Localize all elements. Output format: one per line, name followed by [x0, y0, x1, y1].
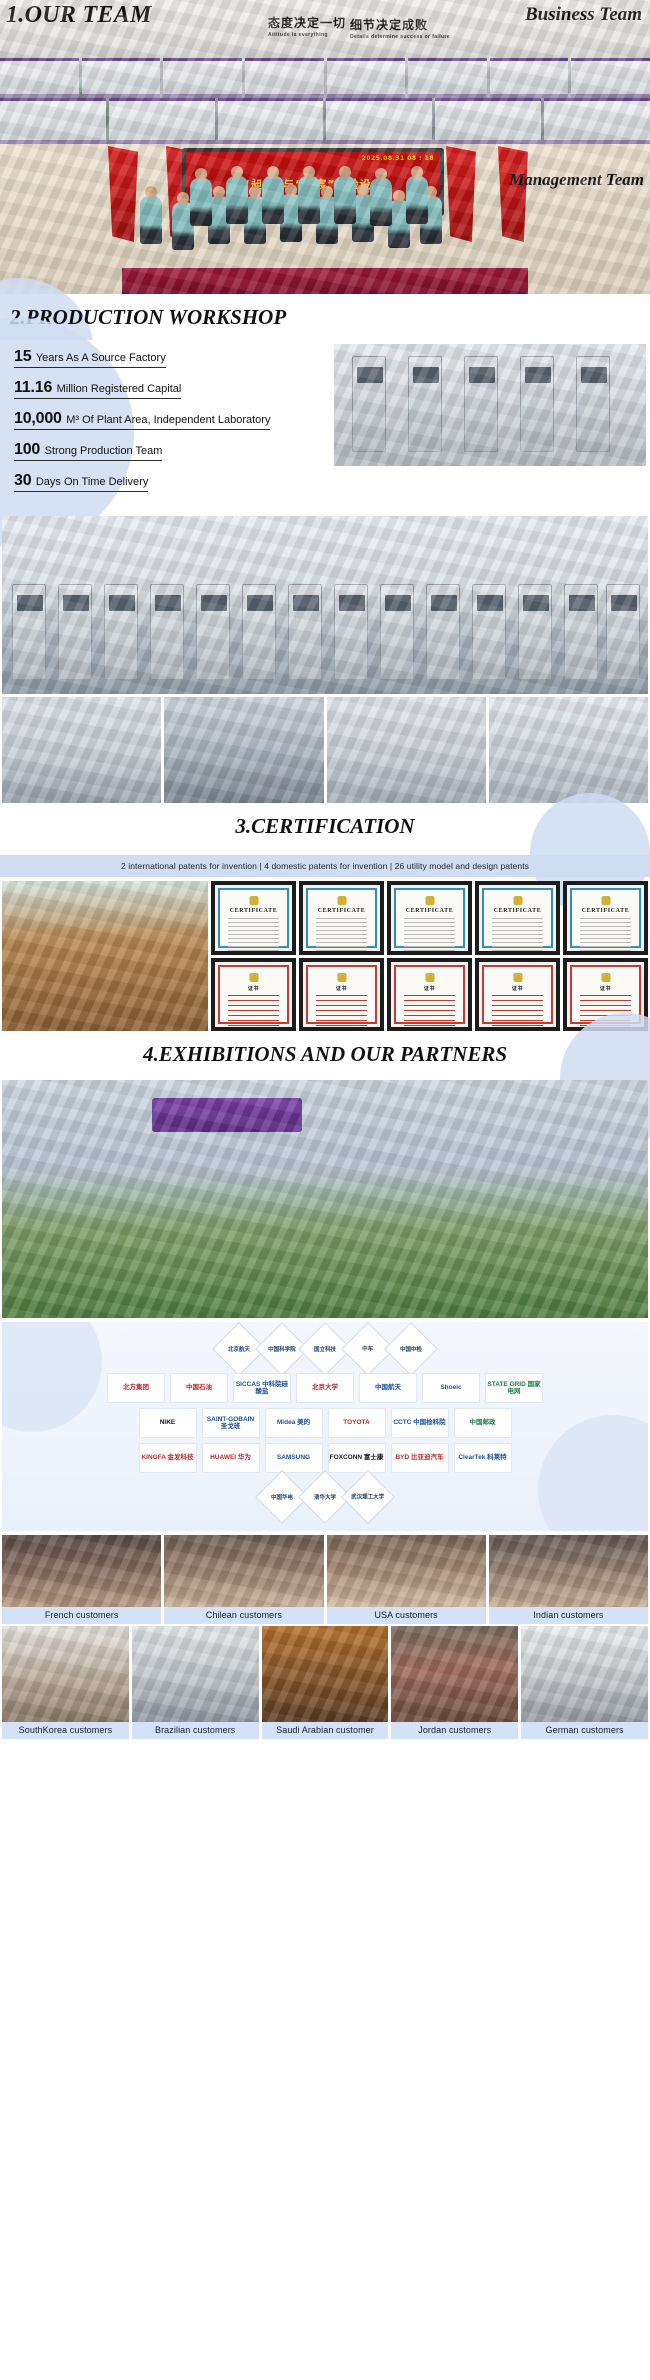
certificate-title-cn: 证书 [396, 985, 463, 992]
wall-slogan-attitude-en: Attitude is everything [268, 32, 328, 38]
partner-logo: 北方集团 [107, 1373, 165, 1403]
partner-row: KINGFA 金发科技 HUAWEI 华为 SAMSUNG FOXCONN 富士… [6, 1443, 644, 1473]
workshop-photo-assembly [164, 697, 323, 803]
section-heading-our-team: 1.OUR TEAM [6, 2, 152, 29]
team-member [370, 178, 392, 226]
section-heading-exhibitions: 4.EXHIBITIONS AND OUR PARTNERS [0, 1031, 650, 1077]
stat-text: Years As A Source Factory [36, 352, 166, 364]
seal-icon [601, 973, 610, 982]
certificate-title: CERTIFICATE [572, 908, 639, 914]
workshop-photo-machines [489, 697, 648, 803]
stat-item: 11.16 Million Registered Capital [14, 379, 181, 399]
customer-card: Indian customers [489, 1535, 648, 1624]
stat-item: 30 Days On Time Delivery [14, 472, 148, 492]
honor-wall-photo [2, 881, 208, 1031]
office-cubicle [218, 98, 324, 144]
stat-item: 100 Strong Production Team [14, 441, 162, 461]
customer-card: French customers [2, 1535, 161, 1624]
customer-card: SouthKorea customers [2, 1626, 129, 1739]
certificate-frame: 证书 [211, 958, 296, 1032]
certificate-frame: 证书 [387, 958, 472, 1032]
partner-logo: CCTC 中国检科院 [391, 1408, 449, 1438]
certificate-title-cn: 证书 [308, 985, 375, 992]
partner-logo: Shoeic [422, 1373, 480, 1403]
team-member [190, 178, 212, 226]
seal-icon [601, 896, 610, 905]
certificate-title-cn: 证书 [572, 985, 639, 992]
office-cubicle [408, 58, 487, 98]
stat-text: Million Registered Capital [57, 383, 182, 395]
team-member [262, 176, 284, 224]
partner-logo: 武汉理工大学 [341, 1470, 395, 1524]
partner-logo: ClearTek 科莱特 [454, 1443, 512, 1473]
stat-text: Days On Time Delivery [36, 476, 148, 488]
customer-card: Jordan customers [391, 1626, 518, 1739]
stats-list: 15 Years As A Source Factory 11.16 Milli… [0, 340, 330, 513]
partner-logo: SAMSUNG [265, 1443, 323, 1473]
stat-item: 10,000 M³ Of Plant Area, Independent Lab… [14, 410, 270, 430]
office-cubicle [82, 58, 161, 98]
section-heading-production-workshop: 2.PRODUCTION WORKSHOP [0, 294, 650, 340]
partner-label: 中国华电 [271, 1493, 293, 1501]
partner-label: 清华大学 [314, 1493, 336, 1501]
partner-logo: SAINT-GOBAIN 圣戈班 [202, 1408, 260, 1438]
partner-logo: NIKE [139, 1408, 197, 1438]
partner-row: NIKE SAINT-GOBAIN 圣戈班 Midea 美的 TOYOTA CC… [6, 1408, 644, 1438]
partner-label: 北京航天 [228, 1345, 250, 1353]
patents-banner-text: 2 international patents for invention | … [121, 861, 529, 871]
management-team-photo: 2025.08.31 08 : 18 “昶丰”与“昱宸”实验设备 战略合作签约仪… [0, 144, 650, 294]
certification-grid: CERTIFICATE CERTIFICATE CERTIFICATE CERT… [0, 881, 650, 1031]
red-flag [446, 146, 476, 242]
seal-icon [513, 973, 522, 982]
stat-text: M³ Of Plant Area, Independent Laboratory [66, 414, 270, 426]
team-member [140, 196, 162, 244]
stat-number: 10,000 [14, 410, 62, 427]
partner-row: 中国华电 清华大学 武汉理工大学 [6, 1478, 644, 1516]
label-business-team: Business Team [525, 4, 642, 26]
partner-label: 武汉理工大学 [351, 1493, 384, 1501]
partner-logo: TOYOTA [328, 1408, 386, 1438]
customer-caption: Jordan customers [391, 1722, 518, 1739]
partner-label: 中车 [362, 1345, 373, 1353]
seal-icon [249, 973, 258, 982]
office-cubicle [435, 98, 541, 144]
workshop-stats-block: 15 Years As A Source Factory 11.16 Milli… [0, 340, 650, 513]
office-cubicle [0, 58, 79, 98]
seal-icon [513, 896, 522, 905]
team-member [334, 176, 356, 224]
workshop-photo-cad [2, 697, 161, 803]
customer-card: Chilean customers [164, 1535, 323, 1624]
partner-logo: STATE GRID 国家电网 [485, 1373, 543, 1403]
wall-slogan-attitude: 态度决定一切 [268, 14, 346, 31]
office-cubicle [245, 58, 324, 98]
customer-caption: USA customers [327, 1607, 486, 1624]
customer-photo [391, 1626, 518, 1722]
partner-logo: Midea 美的 [265, 1408, 323, 1438]
company-profile-page: 1.OUR TEAM Business Team 态度决定一切 Attitude… [0, 0, 650, 1739]
partner-logo: 中国邮政 [454, 1408, 512, 1438]
stat-text: Strong Production Team [45, 445, 163, 457]
customer-photo [489, 1535, 648, 1607]
red-flag [498, 146, 528, 242]
customer-photo [327, 1535, 486, 1607]
certificate-title: CERTIFICATE [484, 908, 551, 914]
office-cubicle [326, 98, 432, 144]
customer-caption: Chilean customers [164, 1607, 323, 1624]
customer-photo [164, 1535, 323, 1607]
customer-photo [262, 1626, 389, 1722]
partner-label: 国立科技 [314, 1345, 336, 1353]
certificate-title-cn: 证书 [220, 985, 287, 992]
partner-row: 北方集团 中国石油 SICCAS 中科院硅酸盐 北京大学 中国航天 Shoeic… [6, 1373, 644, 1403]
certificate-title: CERTIFICATE [308, 908, 375, 914]
section-heading-production-workshop-wrap: 2.PRODUCTION WORKSHOP [0, 294, 650, 340]
booth-sign [152, 1098, 302, 1132]
office-cubicle [0, 98, 106, 144]
seal-icon [249, 896, 258, 905]
office-cubicle [163, 58, 242, 98]
stat-item: 15 Years As A Source Factory [14, 348, 166, 368]
ceremony-table [122, 268, 528, 294]
section-heading-certification: 3.CERTIFICATION [0, 803, 650, 849]
office-cubicle [490, 58, 569, 98]
certificate-frame: 证书 [475, 958, 560, 1032]
team-member [406, 176, 428, 224]
team-member [226, 176, 248, 224]
partner-logo: BYD 比亚迪汽车 [391, 1443, 449, 1473]
partner-logo: 中国航天 [359, 1373, 417, 1403]
customer-card: Saudi Arabian customer [262, 1626, 389, 1739]
partner-logo: HUAWEI 华为 [202, 1443, 260, 1473]
red-flag [108, 146, 138, 242]
customer-caption: French customers [2, 1607, 161, 1624]
seal-icon [337, 896, 346, 905]
customers-row-2: SouthKorea customers Brazilian customers… [2, 1626, 648, 1739]
customer-caption: Indian customers [489, 1607, 648, 1624]
certificate-frame: 证书 [299, 958, 384, 1032]
customer-caption: SouthKorea customers [2, 1722, 129, 1739]
stat-number: 15 [14, 348, 31, 365]
partner-logo: KINGFA 金发科技 [139, 1443, 197, 1473]
partner-logo: 北京大学 [296, 1373, 354, 1403]
customer-photo [2, 1535, 161, 1607]
customer-caption: Saudi Arabian customer [262, 1722, 389, 1739]
stat-number: 11.16 [14, 379, 52, 396]
partner-logo: FOXCONN 富士康 [328, 1443, 386, 1473]
partner-logo: SICCAS 中科院硅酸盐 [233, 1373, 291, 1403]
office-cubicle [109, 98, 215, 144]
customer-caption: Brazilian customers [132, 1722, 259, 1739]
stat-number: 100 [14, 441, 40, 458]
production-line-photo [2, 516, 648, 694]
certificates-wall: CERTIFICATE CERTIFICATE CERTIFICATE CERT… [211, 881, 648, 1031]
certificate-frame: CERTIFICATE [211, 881, 296, 955]
label-management-team: Management Team [509, 170, 644, 190]
customer-photo [132, 1626, 259, 1722]
certificate-title: CERTIFICATE [220, 908, 287, 914]
customer-card: German customers [521, 1626, 648, 1739]
wall-slogan-details-en: Details determine success or failure [350, 34, 450, 40]
wall-slogan-details: 细节决定成败 [350, 16, 428, 33]
exhibition-group-photo [2, 1080, 648, 1318]
customer-card: USA customers [327, 1535, 486, 1624]
office-cubicle [544, 98, 650, 144]
section-heading-certification-wrap: 3.CERTIFICATION [0, 803, 650, 849]
customer-card: Brazilian customers [132, 1626, 259, 1739]
section-heading-exhibitions-wrap: 4.EXHIBITIONS AND OUR PARTNERS [0, 1031, 650, 1077]
partner-label: 中国科学院 [268, 1345, 296, 1353]
stat-number: 30 [14, 472, 31, 489]
partner-logo: 中国石油 [170, 1373, 228, 1403]
certificate-frame: CERTIFICATE [563, 881, 648, 955]
office-cubicle [327, 58, 406, 98]
customer-caption: German customers [521, 1722, 648, 1739]
certificate-title-cn: 证书 [484, 985, 551, 992]
office-cubicle [571, 58, 650, 98]
certificate-title: CERTIFICATE [396, 908, 463, 914]
certificate-frame: CERTIFICATE [475, 881, 560, 955]
customer-photo [521, 1626, 648, 1722]
customer-photo [2, 1626, 129, 1722]
workshop-photo-testing [327, 697, 486, 803]
seal-icon [337, 973, 346, 982]
seal-icon [425, 896, 434, 905]
team-member [298, 176, 320, 224]
partner-logo: 中国中检 [384, 1322, 438, 1376]
workshop-photo-strip [0, 694, 650, 803]
customers-gallery: French customers Chilean customers USA c… [0, 1531, 650, 1739]
partner-row: 北京航天 中国科学院 国立科技 中车 中国中检 [6, 1330, 644, 1368]
seal-icon [425, 973, 434, 982]
partners-logo-grid: 北京航天 中国科学院 国立科技 中车 中国中检 北方集团 中国石油 SICCAS… [2, 1322, 648, 1531]
customers-row-1: French customers Chilean customers USA c… [2, 1535, 648, 1624]
certificate-frame: CERTIFICATE [299, 881, 384, 955]
office-team-photo: 1.OUR TEAM Business Team 态度决定一切 Attitude… [0, 0, 650, 144]
certificate-frame: CERTIFICATE [387, 881, 472, 955]
partner-label: 中国中检 [400, 1345, 422, 1353]
workshop-equipment-photo [334, 344, 646, 466]
screen-timestamp: 2025.08.31 08 : 18 [362, 155, 434, 162]
